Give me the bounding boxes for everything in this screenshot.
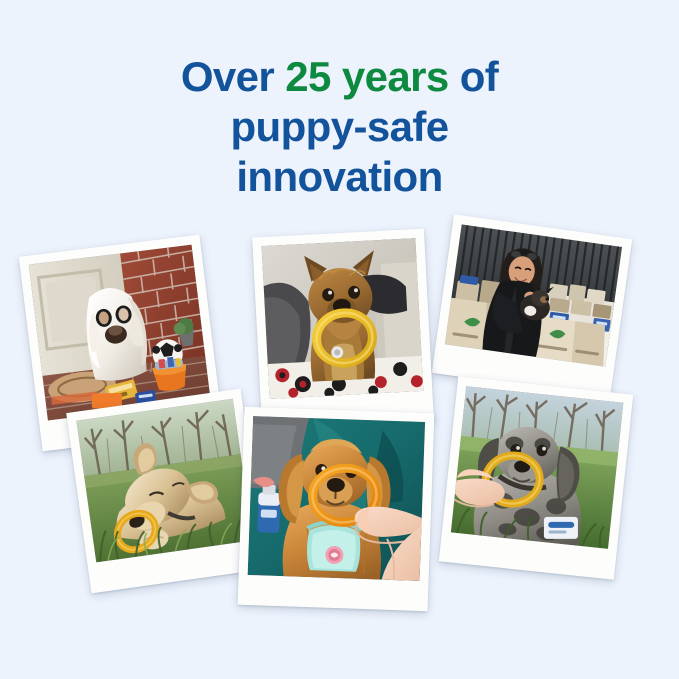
polaroid-frame-tan-dog[interactable] <box>66 389 266 594</box>
photo-spaniel-orange-ring <box>248 416 425 581</box>
headline-line-3: innovation <box>0 152 679 202</box>
polaroid-frame-booth[interactable] <box>432 214 633 397</box>
collage-page: Over 25 years of puppy-safe innovation <box>0 0 679 679</box>
photo-woman-booth <box>445 224 622 366</box>
photo-yorkie-yellow-ring <box>262 238 424 399</box>
headline-text-of: of <box>449 53 499 100</box>
photo-ghost-dog <box>29 245 211 421</box>
headline-text-over: Over <box>181 53 285 100</box>
polaroid-frame-yorkie[interactable] <box>252 229 434 430</box>
polaroid-frame-merle-hound[interactable] <box>439 376 633 579</box>
headline-line-2: puppy-safe <box>0 102 679 152</box>
photo-merle-hound <box>451 386 624 549</box>
headline-highlight-years: 25 years <box>285 53 448 100</box>
polaroid-frame-spaniel[interactable] <box>238 407 435 612</box>
page-title: Over 25 years of puppy-safe innovation <box>0 52 679 202</box>
headline-line-1: Over 25 years of <box>0 52 679 102</box>
photo-tan-dog-grass <box>76 399 252 563</box>
